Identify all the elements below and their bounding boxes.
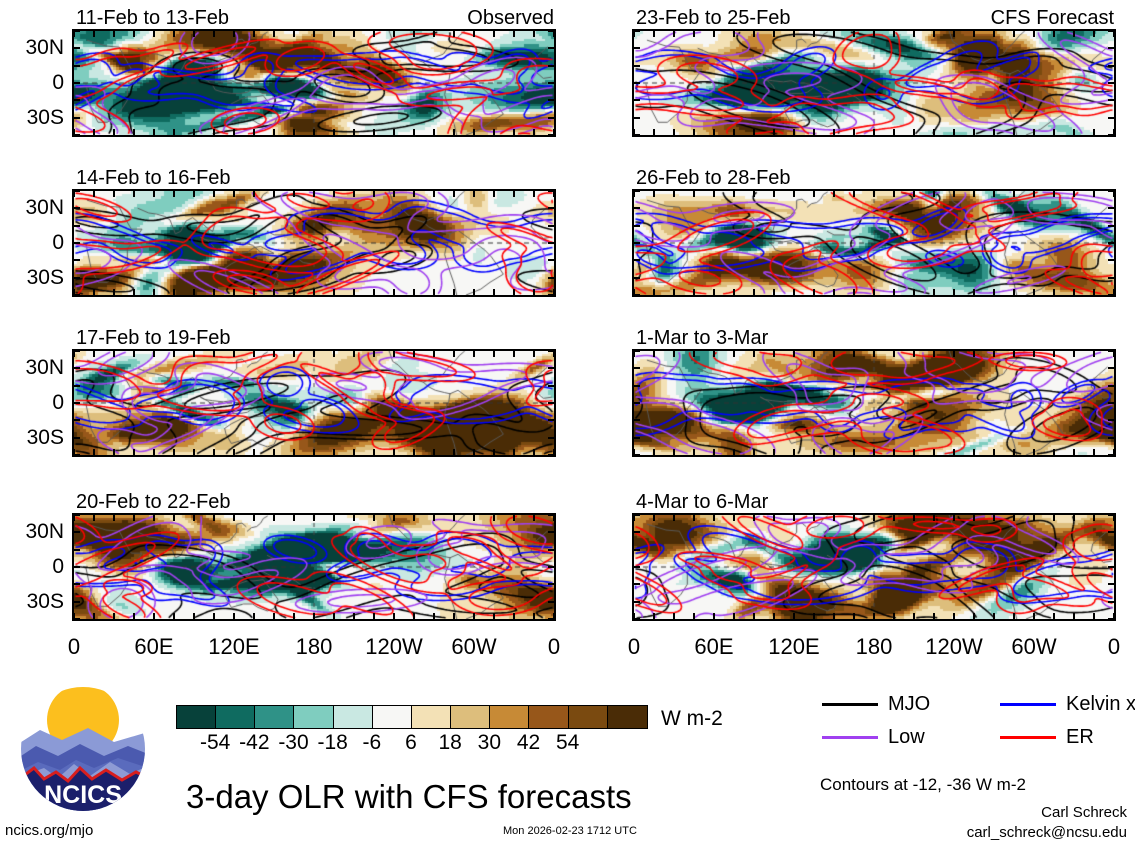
- axis-tick: [433, 351, 435, 357]
- axis-tick: [953, 515, 955, 521]
- axis-tick: [373, 515, 375, 521]
- x-axis-label-180-col1: 180: [270, 636, 358, 658]
- axis-tick: [493, 449, 495, 455]
- axis-tick: [634, 402, 640, 404]
- axis-tick: [1108, 242, 1114, 244]
- axis-tick: [548, 294, 554, 296]
- axis-tick: [413, 351, 415, 357]
- axis-tick: [634, 82, 640, 84]
- axis-tick: [1108, 514, 1114, 516]
- axis-tick: [313, 613, 315, 619]
- axis-tick: [153, 289, 155, 295]
- y-axis-label-30N: 30N: [25, 357, 64, 378]
- axis-tick: [74, 99, 80, 101]
- axis-tick: [753, 191, 755, 197]
- axis-tick: [693, 351, 695, 357]
- axis-tick: [333, 191, 335, 197]
- axis-tick: [913, 351, 915, 357]
- axis-tick: [1093, 129, 1095, 135]
- axis-tick: [548, 531, 554, 533]
- axis-tick: [653, 129, 655, 135]
- axis-tick: [1108, 99, 1114, 101]
- axis-tick: [74, 242, 80, 244]
- axis-tick: [373, 449, 375, 455]
- olr-cfs-figure: 11-Feb to 13-FebObserved30N030S14-Feb to…: [0, 0, 1135, 844]
- legend-line-swatch: [822, 736, 878, 739]
- axis-tick: [193, 351, 195, 357]
- x-axis-label-120E-col1: 120E: [190, 636, 278, 658]
- axis-tick: [1073, 129, 1075, 135]
- axis-tick: [353, 31, 355, 37]
- axis-tick: [548, 259, 554, 261]
- axis-tick: [233, 449, 235, 455]
- axis-tick: [493, 129, 495, 135]
- axis-tick: [473, 351, 475, 357]
- axis-tick: [93, 351, 95, 357]
- axis-tick: [833, 351, 835, 357]
- axis-tick: [853, 129, 855, 135]
- axis-tick: [1073, 613, 1075, 619]
- axis-tick: [793, 191, 795, 197]
- axis-tick: [453, 613, 455, 619]
- axis-tick: [293, 613, 295, 619]
- axis-tick: [813, 289, 815, 295]
- axis-tick: [548, 47, 554, 49]
- axis-tick: [313, 191, 315, 197]
- axis-tick: [313, 129, 315, 135]
- axis-tick: [548, 385, 554, 387]
- axis-tick: [993, 31, 995, 37]
- axis-tick: [1108, 259, 1114, 261]
- axis-tick: [653, 449, 655, 455]
- axis-tick: [74, 566, 80, 568]
- axis-tick: [653, 31, 655, 37]
- axis-tick: [293, 351, 295, 357]
- map-panel-2: [72, 189, 556, 297]
- axis-tick: [548, 242, 554, 244]
- axis-tick: [393, 289, 395, 295]
- axis-tick: [473, 613, 475, 619]
- axis-tick: [113, 613, 115, 619]
- axis-tick: [973, 31, 975, 37]
- axis-tick: [1073, 289, 1075, 295]
- axis-tick: [853, 191, 855, 197]
- axis-tick: [693, 191, 695, 197]
- axis-tick: [1073, 31, 1075, 37]
- axis-tick: [634, 99, 640, 101]
- axis-tick: [873, 351, 875, 357]
- axis-tick: [548, 207, 554, 209]
- axis-tick: [673, 515, 675, 521]
- axis-tick: [213, 129, 215, 135]
- axis-tick: [113, 129, 115, 135]
- axis-tick: [233, 129, 235, 135]
- axis-tick: [213, 613, 215, 619]
- axis-tick: [133, 289, 135, 295]
- axis-tick: [433, 31, 435, 37]
- axis-tick: [693, 613, 695, 619]
- axis-tick: [933, 351, 935, 357]
- axis-tick: [113, 449, 115, 455]
- axis-tick: [548, 437, 554, 439]
- axis-tick: [1108, 277, 1114, 279]
- axis-tick: [213, 351, 215, 357]
- axis-tick: [1053, 191, 1055, 197]
- axis-tick: [634, 242, 640, 244]
- axis-tick: [733, 289, 735, 295]
- axis-tick: [933, 613, 935, 619]
- axis-tick: [253, 31, 255, 37]
- axis-tick: [293, 191, 295, 197]
- axis-tick: [74, 294, 80, 296]
- axis-tick: [233, 351, 235, 357]
- axis-tick: [193, 31, 195, 37]
- panel-title-1: 11-Feb to 13-Feb: [76, 8, 229, 28]
- axis-tick: [673, 613, 675, 619]
- axis-tick: [453, 191, 455, 197]
- axis-tick: [293, 449, 295, 455]
- axis-tick: [453, 31, 455, 37]
- axis-tick: [693, 31, 695, 37]
- axis-tick: [353, 515, 355, 521]
- axis-tick: [753, 289, 755, 295]
- axis-tick: [1033, 449, 1035, 455]
- axis-tick: [973, 449, 975, 455]
- axis-tick: [548, 225, 554, 227]
- axis-tick: [393, 351, 395, 357]
- axis-tick: [1013, 31, 1015, 37]
- x-axis-label-60E-col2: 60E: [670, 636, 758, 658]
- axis-tick: [733, 613, 735, 619]
- axis-tick: [693, 129, 695, 135]
- axis-tick: [1108, 601, 1114, 603]
- axis-tick: [533, 449, 535, 455]
- axis-tick: [833, 31, 835, 37]
- axis-tick: [433, 613, 435, 619]
- axis-tick: [313, 515, 315, 521]
- axis-tick: [653, 613, 655, 619]
- axis-tick: [548, 583, 554, 585]
- axis-tick: [833, 515, 835, 521]
- axis-tick: [1073, 191, 1075, 197]
- axis-tick: [893, 289, 895, 295]
- figure-title: 3-day OLR with CFS forecasts: [186, 780, 632, 813]
- axis-tick: [333, 351, 335, 357]
- axis-tick: [873, 515, 875, 521]
- axis-tick: [713, 129, 715, 135]
- y-axis-label-30N: 30N: [25, 521, 64, 542]
- axis-tick: [213, 31, 215, 37]
- axis-tick: [793, 129, 795, 135]
- axis-tick: [233, 31, 235, 37]
- x-axis-label-120W-col1: 120W: [350, 636, 438, 658]
- axis-tick: [1108, 190, 1114, 192]
- legend-label: Kelvin x2: [1066, 694, 1135, 714]
- axis-tick: [634, 225, 640, 227]
- axis-tick: [74, 65, 80, 67]
- panel-title-2: 14-Feb to 16-Feb: [76, 168, 231, 188]
- axis-tick: [1033, 129, 1035, 135]
- axis-tick: [893, 449, 895, 455]
- axis-tick: [634, 134, 640, 136]
- axis-tick: [893, 515, 895, 521]
- legend-item-er: ER: [1000, 727, 1094, 747]
- axis-tick: [253, 191, 255, 197]
- axis-tick: [793, 613, 795, 619]
- legend-label: ER: [1066, 727, 1094, 747]
- axis-tick: [533, 351, 535, 357]
- axis-tick: [634, 259, 640, 261]
- ncics-logo-svg: NCICS: [18, 684, 148, 814]
- axis-tick: [813, 449, 815, 455]
- axis-tick: [634, 454, 640, 456]
- x-axis-label-120W-col2: 120W: [910, 636, 998, 658]
- legend-item-kelvin-x2: Kelvin x2: [1000, 694, 1135, 714]
- axis-tick: [548, 82, 554, 84]
- axis-tick: [1093, 191, 1095, 197]
- axis-tick: [913, 129, 915, 135]
- axis-tick: [153, 31, 155, 37]
- axis-tick: [753, 515, 755, 521]
- axis-tick: [873, 289, 875, 295]
- axis-tick: [133, 129, 135, 135]
- axis-tick: [1013, 289, 1015, 295]
- axis-tick: [853, 289, 855, 295]
- axis-tick: [93, 515, 95, 521]
- axis-tick: [993, 515, 995, 521]
- axis-tick: [933, 289, 935, 295]
- axis-tick: [548, 419, 554, 421]
- axis-tick: [973, 289, 975, 295]
- axis-tick: [74, 618, 80, 620]
- axis-tick: [193, 449, 195, 455]
- panel-title-4: 20-Feb to 22-Feb: [76, 492, 231, 512]
- y-axis-label-30S: 30S: [27, 267, 64, 288]
- axis-tick: [653, 191, 655, 197]
- axis-tick: [74, 82, 80, 84]
- axis-tick: [1108, 117, 1114, 119]
- axis-tick: [913, 613, 915, 619]
- axis-tick: [493, 191, 495, 197]
- axis-tick: [753, 31, 755, 37]
- axis-tick: [548, 549, 554, 551]
- legend-item-low: Low: [822, 727, 925, 747]
- map-canvas-3: [74, 351, 554, 455]
- colorbar-units-label: W m-2: [661, 708, 723, 729]
- axis-tick: [1053, 31, 1055, 37]
- axis-tick: [413, 191, 415, 197]
- axis-tick: [953, 31, 955, 37]
- axis-tick: [353, 351, 355, 357]
- axis-tick: [133, 31, 135, 37]
- axis-tick: [634, 618, 640, 620]
- axis-tick: [773, 515, 775, 521]
- axis-tick: [673, 129, 675, 135]
- axis-tick: [693, 289, 695, 295]
- axis-tick: [74, 259, 80, 261]
- axis-tick: [973, 191, 975, 197]
- axis-tick: [773, 289, 775, 295]
- colorbar-swatch-5: [373, 706, 412, 728]
- map-canvas-1: [74, 31, 554, 135]
- axis-tick: [1108, 47, 1114, 49]
- axis-tick: [413, 289, 415, 295]
- axis-tick: [253, 129, 255, 135]
- axis-tick: [913, 515, 915, 521]
- axis-tick: [133, 351, 135, 357]
- axis-tick: [813, 129, 815, 135]
- axis-tick: [1108, 454, 1114, 456]
- axis-tick: [893, 129, 895, 135]
- axis-tick: [113, 351, 115, 357]
- axis-tick: [813, 613, 815, 619]
- axis-tick: [74, 30, 80, 32]
- axis-tick: [634, 419, 640, 421]
- axis-tick: [333, 515, 335, 521]
- column-header-observed: Observed: [467, 8, 554, 28]
- axis-tick: [473, 191, 475, 197]
- axis-tick: [1108, 367, 1114, 369]
- axis-tick: [733, 129, 735, 135]
- axis-tick: [873, 613, 875, 619]
- panel-title-3: 17-Feb to 19-Feb: [76, 328, 231, 348]
- axis-tick: [973, 129, 975, 135]
- axis-tick: [313, 449, 315, 455]
- axis-tick: [634, 583, 640, 585]
- map-panel-8: [632, 513, 1116, 621]
- axis-tick: [533, 31, 535, 37]
- axis-tick: [873, 449, 875, 455]
- axis-tick: [1053, 613, 1055, 619]
- axis-tick: [548, 601, 554, 603]
- map-canvas-6: [634, 191, 1114, 295]
- axis-tick: [373, 31, 375, 37]
- map-panel-3: [72, 349, 556, 457]
- axis-tick: [293, 515, 295, 521]
- axis-tick: [74, 514, 80, 516]
- axis-tick: [1108, 225, 1114, 227]
- axis-tick: [74, 117, 80, 119]
- x-axis-label-120E-col2: 120E: [750, 636, 838, 658]
- axis-tick: [333, 613, 335, 619]
- axis-tick: [1033, 289, 1035, 295]
- axis-tick: [93, 289, 95, 295]
- panel-title-8: 4-Mar to 6-Mar: [636, 492, 768, 512]
- axis-tick: [93, 129, 95, 135]
- axis-tick: [293, 31, 295, 37]
- axis-tick: [273, 191, 275, 197]
- axis-tick: [753, 129, 755, 135]
- axis-tick: [74, 190, 80, 192]
- axis-tick: [413, 515, 415, 521]
- axis-tick: [813, 515, 815, 521]
- axis-tick: [634, 566, 640, 568]
- y-axis-label-0: 0: [52, 392, 64, 413]
- axis-tick: [153, 515, 155, 521]
- axis-tick: [333, 129, 335, 135]
- axis-tick: [693, 449, 695, 455]
- axis-tick: [773, 31, 775, 37]
- axis-tick: [473, 129, 475, 135]
- axis-tick: [133, 449, 135, 455]
- axis-tick: [373, 191, 375, 197]
- axis-tick: [1108, 437, 1114, 439]
- axis-tick: [173, 613, 175, 619]
- axis-tick: [548, 566, 554, 568]
- axis-tick: [833, 129, 835, 135]
- axis-tick: [634, 367, 640, 369]
- axis-tick: [453, 289, 455, 295]
- axis-tick: [634, 601, 640, 603]
- axis-tick: [1093, 289, 1095, 295]
- axis-tick: [773, 191, 775, 197]
- axis-tick: [493, 289, 495, 295]
- axis-tick: [853, 613, 855, 619]
- axis-tick: [793, 289, 795, 295]
- axis-tick: [93, 191, 95, 197]
- axis-tick: [953, 129, 955, 135]
- axis-tick: [1033, 613, 1035, 619]
- axis-tick: [1013, 191, 1015, 197]
- axis-tick: [153, 129, 155, 135]
- axis-tick: [973, 351, 975, 357]
- axis-tick: [713, 289, 715, 295]
- axis-tick: [548, 30, 554, 32]
- axis-tick: [533, 129, 535, 135]
- axis-tick: [548, 190, 554, 192]
- axis-tick: [74, 454, 80, 456]
- y-axis-label-30S: 30S: [27, 107, 64, 128]
- colorbar-swatch-0: [177, 706, 216, 728]
- axis-tick: [773, 351, 775, 357]
- axis-tick: [548, 402, 554, 404]
- axis-tick: [733, 449, 735, 455]
- axis-tick: [93, 31, 95, 37]
- axis-tick: [853, 515, 855, 521]
- axis-tick: [453, 129, 455, 135]
- axis-tick: [1053, 129, 1055, 135]
- axis-tick: [833, 289, 835, 295]
- map-panel-1: [72, 29, 556, 137]
- axis-tick: [253, 351, 255, 357]
- axis-tick: [1033, 191, 1035, 197]
- x-axis-label-0-col1: 0: [30, 636, 118, 658]
- axis-tick: [673, 351, 675, 357]
- axis-tick: [1093, 449, 1095, 455]
- axis-tick: [548, 618, 554, 620]
- axis-tick: [1033, 515, 1035, 521]
- axis-tick: [1053, 351, 1055, 357]
- axis-tick: [833, 449, 835, 455]
- axis-tick: [1108, 30, 1114, 32]
- axis-tick: [353, 613, 355, 619]
- axis-tick: [293, 129, 295, 135]
- axis-tick: [953, 289, 955, 295]
- axis-tick: [513, 191, 515, 197]
- axis-tick: [634, 277, 640, 279]
- map-panel-7: [632, 349, 1116, 457]
- axis-tick: [793, 351, 795, 357]
- colorbar-swatch-9: [529, 706, 568, 728]
- axis-tick: [634, 294, 640, 296]
- axis-tick: [493, 515, 495, 521]
- axis-tick: [893, 351, 895, 357]
- axis-tick: [74, 601, 80, 603]
- axis-tick: [393, 613, 395, 619]
- map-canvas-8: [634, 515, 1114, 619]
- axis-tick: [413, 613, 415, 619]
- axis-tick: [634, 385, 640, 387]
